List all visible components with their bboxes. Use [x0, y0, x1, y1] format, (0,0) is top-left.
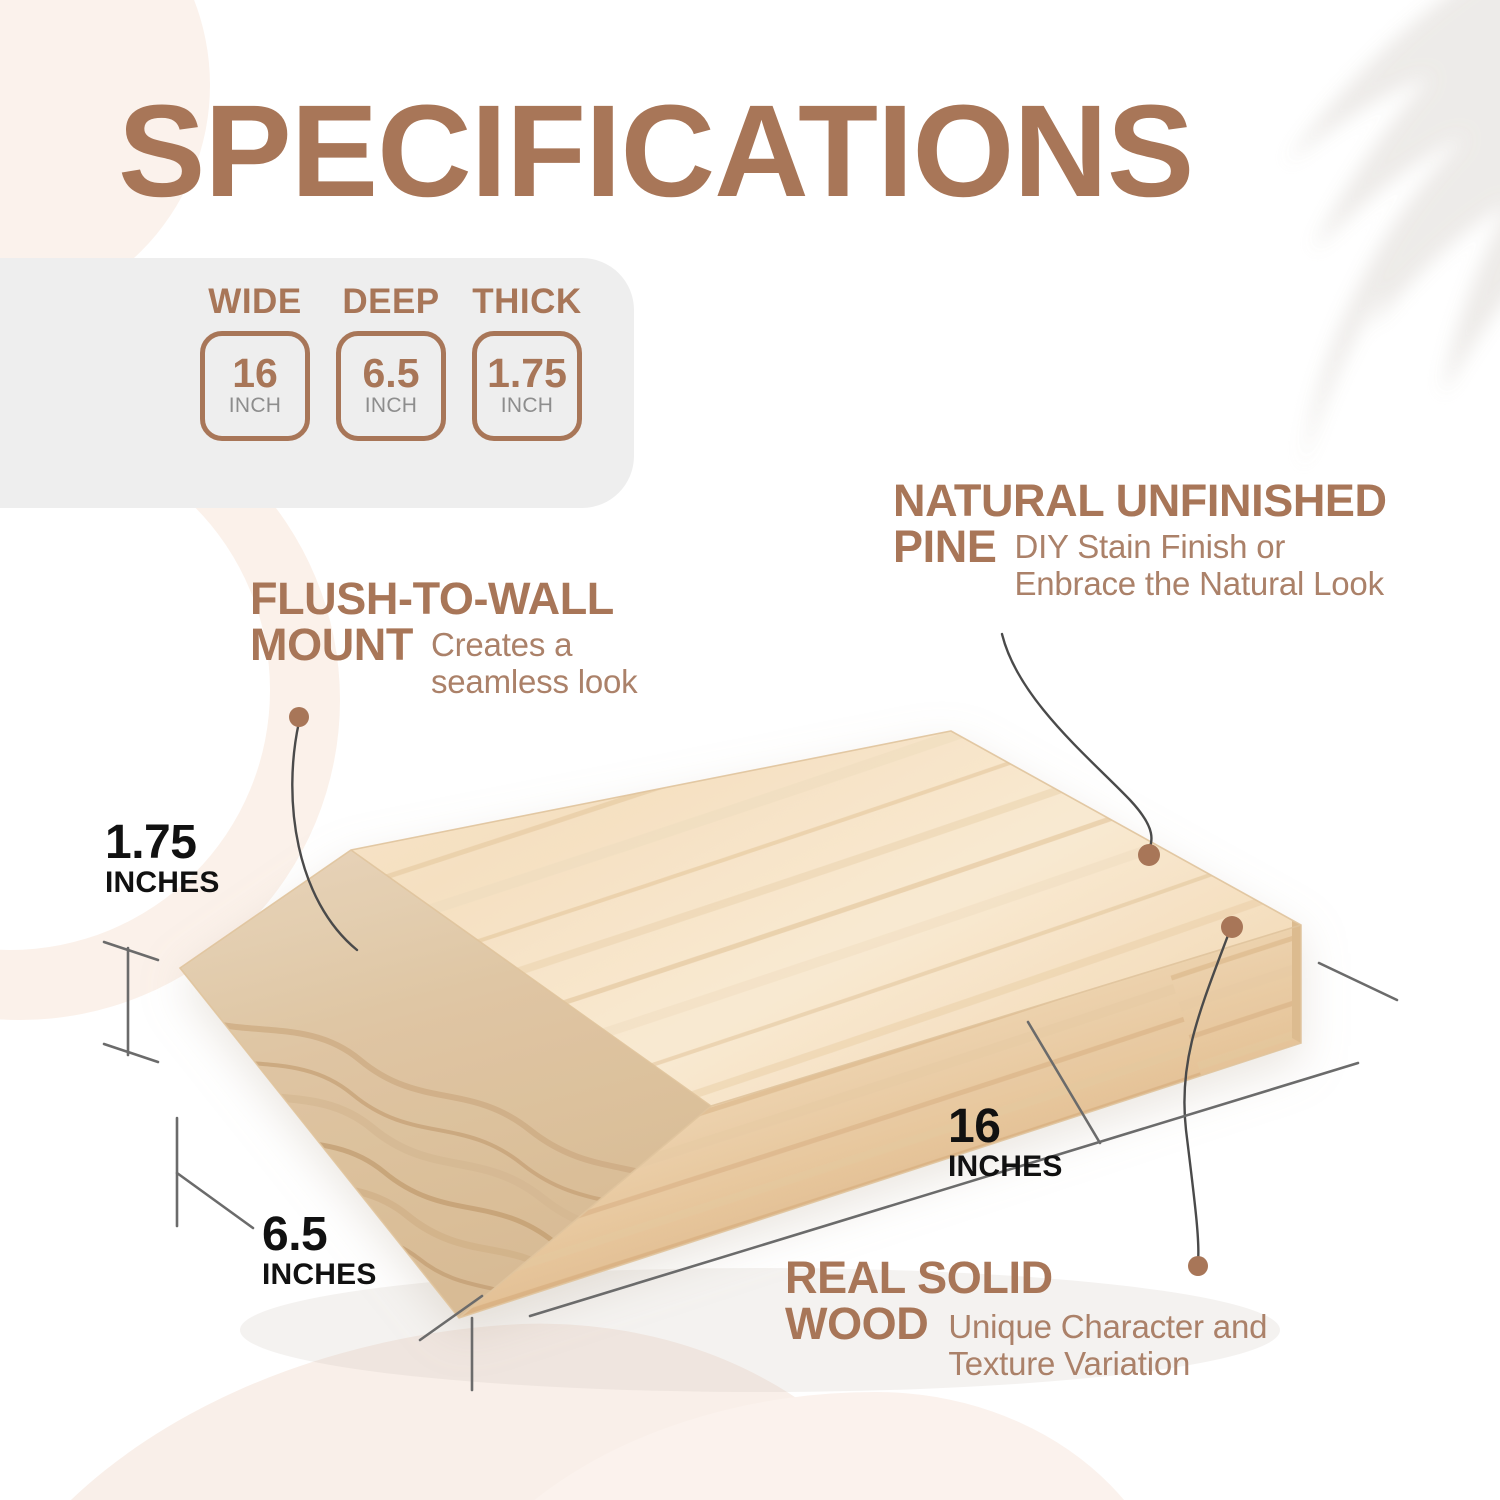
dot-natural-unfinished-pine — [1138, 844, 1160, 866]
callout-flush-kicker-line2: MOUNT — [250, 622, 413, 668]
dimension-line-thickness — [104, 942, 158, 1062]
callout-wood-body: Unique Character and Texture Variation — [948, 1301, 1338, 1383]
dimension-label-depth: 6.5 INCHES — [262, 1212, 377, 1291]
callout-flush-kicker-line1: FLUSH-TO-WALL — [250, 573, 614, 624]
dimension-label-width: 16 INCHES — [948, 1104, 1063, 1183]
dimension-value-width: 16 — [948, 1104, 1063, 1150]
callout-flush-to-wall-mount: FLUSH-TO-WALL MOUNT Creates a seamless l… — [250, 576, 810, 701]
board-right-end-face — [1292, 921, 1301, 1043]
callout-natural-unfinished-pine: NATURAL UNFINISHED PINE DIY Stain Finish… — [893, 478, 1493, 603]
dimension-value-thickness: 1.75 — [105, 820, 220, 866]
callout-pine-kicker-line2: PINE — [893, 524, 996, 570]
dimension-value-depth: 6.5 — [262, 1212, 377, 1258]
dimension-unit-thickness: INCHES — [105, 866, 220, 899]
dot-real-solid-wood — [1221, 916, 1243, 938]
callout-flush-body: Creates a seamless look — [431, 622, 681, 701]
dimension-unit-depth: INCHES — [262, 1258, 377, 1291]
callout-wood-kicker-line2: WOOD — [785, 1301, 928, 1347]
callout-pine-kicker-line1: NATURAL UNFINISHED — [893, 475, 1387, 526]
dimension-unit-width: INCHES — [948, 1150, 1063, 1183]
callout-pine-body: DIY Stain Finish or Enbrace the Natural … — [1014, 524, 1384, 603]
callout-real-solid-wood: REAL SOLID WOOD Unique Character and Tex… — [785, 1255, 1445, 1383]
callout-wood-kicker-line1: REAL SOLID — [785, 1252, 1053, 1303]
dot-flush-to-wall-mount — [289, 707, 309, 727]
dimension-label-thickness: 1.75 INCHES — [105, 820, 220, 899]
infographic-canvas: SPECIFICATIONS WIDE 16 INCH DEEP 6.5 INC… — [0, 0, 1500, 1500]
